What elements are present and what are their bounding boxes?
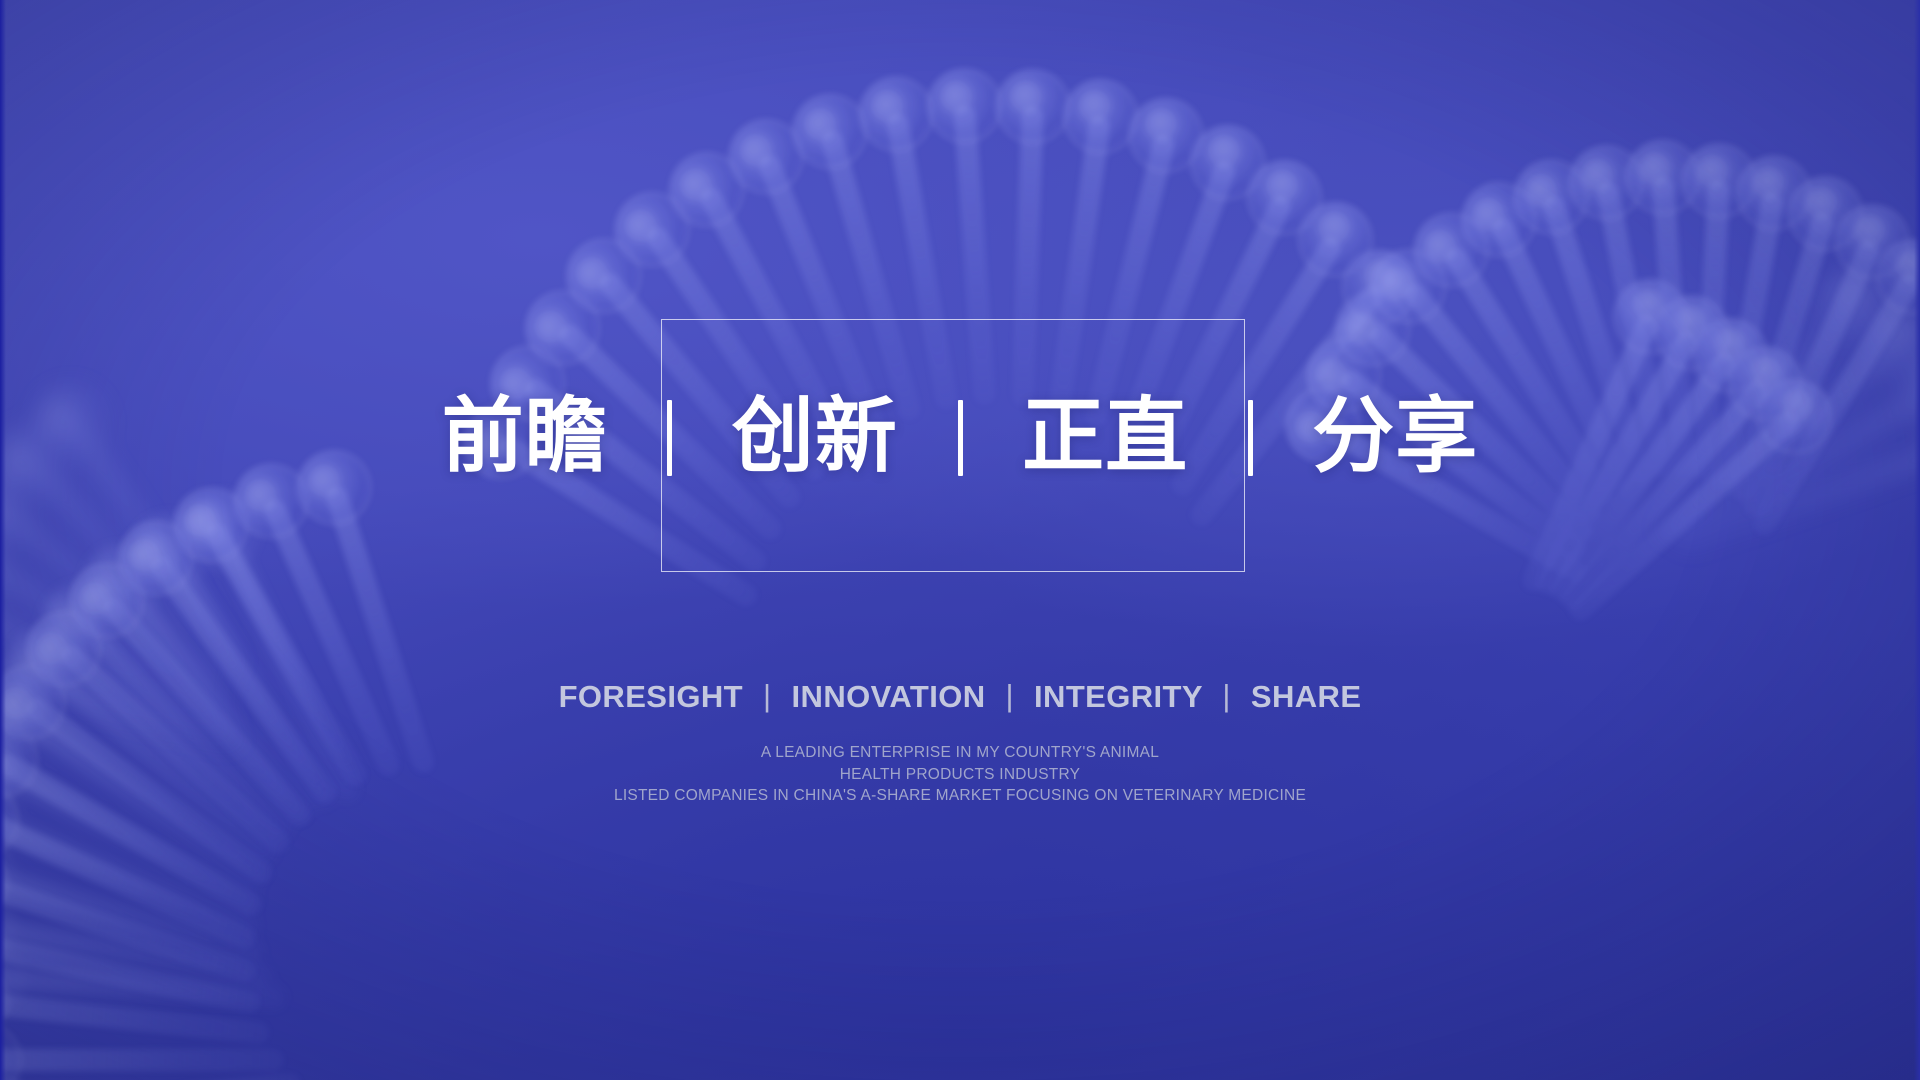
banner-slide: 前瞻 创新 正直 分享 FORESIGHT | INNOVATION | INT…: [0, 0, 1920, 1080]
tagline-foresight: FORESIGHT: [559, 679, 743, 714]
tagline-share: SHARE: [1251, 679, 1362, 714]
tagline-separator-2: |: [1006, 677, 1014, 715]
core-value-integrity-cn: 正直: [1022, 392, 1188, 482]
core-values-tagline: FORESIGHT | INNOVATION | INTEGRITY | SHA…: [0, 678, 1920, 716]
core-value-innovation-cn: 创新: [732, 392, 898, 482]
headline-separator-1: [667, 400, 672, 476]
headline-separator-2: [958, 400, 963, 476]
tagline-innovation: INNOVATION: [792, 679, 986, 714]
core-value-share-cn: 分享: [1312, 392, 1478, 482]
company-descriptor: A LEADING ENTERPRISE IN MY COUNTRY'S ANI…: [0, 742, 1920, 807]
headline-separator-3: [1248, 400, 1253, 476]
tagline-integrity: INTEGRITY: [1034, 679, 1202, 714]
tagline-separator-1: |: [763, 677, 771, 715]
descriptor-line-2: HEALTH PRODUCTS INDUSTRY: [0, 764, 1920, 786]
core-values-headline: 前瞻 创新 正直 分享: [0, 392, 1920, 482]
banner-content: 前瞻 创新 正直 分享 FORESIGHT | INNOVATION | INT…: [0, 0, 1920, 1080]
descriptor-line-1: A LEADING ENTERPRISE IN MY COUNTRY'S ANI…: [0, 742, 1920, 764]
tagline-separator-3: |: [1222, 677, 1230, 715]
core-value-foresight-cn: 前瞻: [442, 392, 608, 482]
descriptor-line-3: LISTED COMPANIES IN CHINA'S A-SHARE MARK…: [0, 785, 1920, 807]
